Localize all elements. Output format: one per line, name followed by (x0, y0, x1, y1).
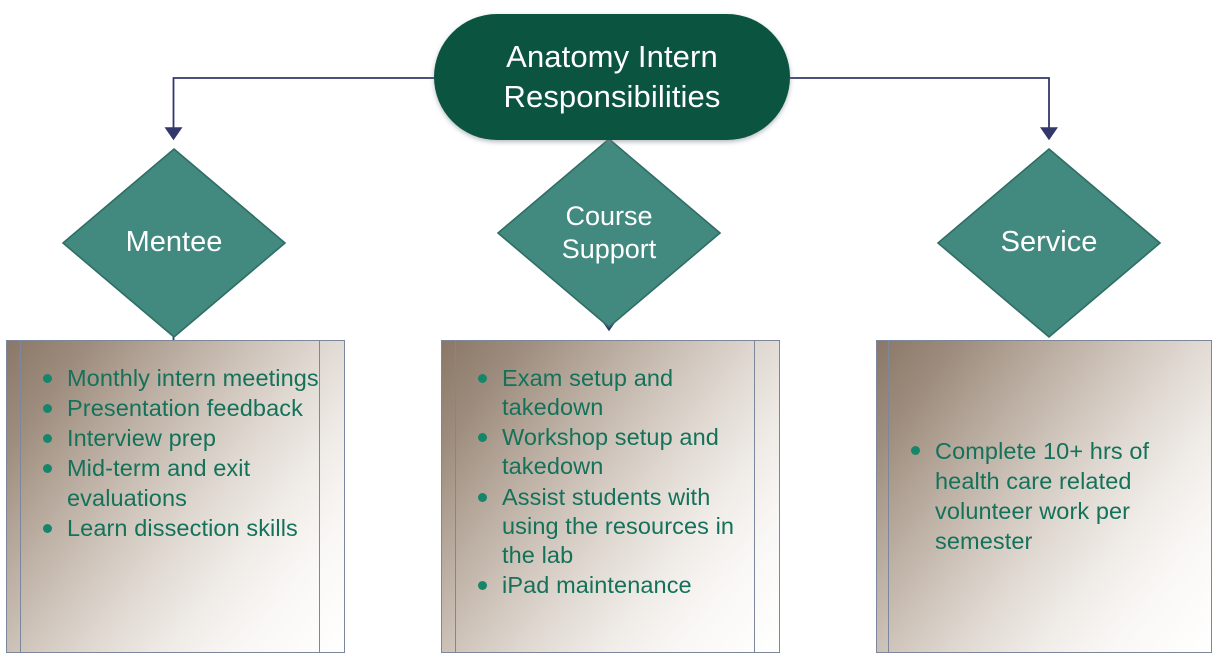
list-item: Complete 10+ hrs of health care related … (897, 436, 1191, 556)
diamond-shape (60, 146, 288, 340)
list-item: Exam setup and takedown (464, 364, 767, 422)
bullet-list-mentee: Monthly intern meetings Presentation fee… (7, 364, 344, 544)
root-node-label-line2: Responsibilities (504, 79, 721, 114)
diamond-shape (495, 136, 723, 330)
list-item: Workshop setup and takedown (464, 423, 767, 481)
root-node-label: Anatomy Intern Responsibilities (504, 37, 721, 116)
bullet-list-service: Complete 10+ hrs of health care related … (877, 341, 1211, 652)
list-box-course-support: Exam setup and takedown Workshop setup a… (441, 340, 780, 653)
list-item: iPad maintenance (464, 571, 767, 600)
list-item: Mid-term and exit evaluations (29, 454, 332, 512)
diagram-canvas: Anatomy Intern Responsibilities Mentee C… (0, 0, 1221, 658)
list-box-service: Complete 10+ hrs of health care related … (876, 340, 1212, 653)
list-item: Learn dissection skills (29, 514, 332, 543)
diamond-node-service[interactable]: Service (935, 146, 1163, 340)
diamond-node-mentee[interactable]: Mentee (60, 146, 288, 340)
list-item: Interview prep (29, 424, 332, 453)
list-item: Presentation feedback (29, 394, 332, 423)
list-box-mentee: Monthly intern meetings Presentation fee… (6, 340, 345, 653)
root-node-label-line1: Anatomy Intern (506, 39, 718, 74)
root-node-anatomy-intern-responsibilities[interactable]: Anatomy Intern Responsibilities (434, 14, 790, 140)
diamond-node-course-support[interactable]: Course Support (495, 136, 723, 330)
bullet-list-course-support: Exam setup and takedown Workshop setup a… (442, 364, 779, 601)
list-item: Assist students with using the resources… (464, 483, 767, 570)
list-item: Monthly intern meetings (29, 364, 332, 393)
diamond-shape (935, 146, 1163, 340)
